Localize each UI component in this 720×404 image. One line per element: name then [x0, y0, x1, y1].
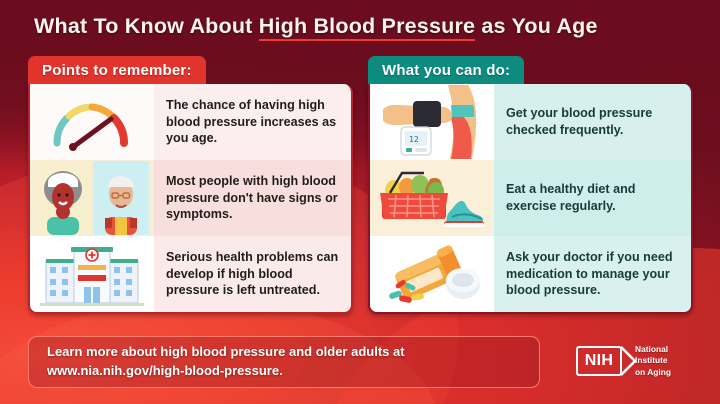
right-panel-card: 12 Get your blood pressure checked frequ…: [368, 84, 693, 314]
footer: Learn more about high blood pressure and…: [28, 336, 692, 388]
svg-text:12: 12: [409, 135, 419, 144]
list-item-text: Most people with high blood pressure don…: [166, 173, 341, 223]
hospital-building-icon: [30, 236, 154, 312]
page-title: What To Know About High Blood Pressure a…: [34, 14, 694, 39]
list-item-text-cell: Eat a healthy diet and exercise regularl…: [494, 160, 691, 236]
list-item-text: The chance of having high blood pressure…: [166, 97, 341, 147]
footer-url[interactable]: www.nia.nih.gov/high-blood-pressure.: [47, 363, 283, 378]
list-item-text-cell: Get your blood pressure checked frequent…: [494, 84, 691, 160]
list-item: Ask your doctor if you need medication t…: [370, 236, 691, 312]
title-underlined-phrase: High Blood Pressure: [259, 14, 475, 41]
list-item-text-cell: Ask your doctor if you need medication t…: [494, 236, 691, 312]
list-item-text: Eat a healthy diet and exercise regularl…: [506, 181, 681, 214]
list-item-text: Serious health problems can develop if h…: [166, 249, 341, 299]
list-item: The chance of having high blood pressure…: [30, 84, 351, 160]
learn-more-box: Learn more about high blood pressure and…: [28, 336, 540, 388]
left-panel-card: The chance of having high blood pressure…: [28, 84, 353, 314]
title-part-1: What To Know About: [34, 14, 259, 38]
right-panel-header: What you can do:: [368, 56, 524, 84]
list-item: Eat a healthy diet and exercise regularl…: [370, 160, 691, 236]
nih-name-line-2: on Aging: [635, 367, 692, 378]
infographic: What To Know About High Blood Pressure a…: [0, 0, 720, 404]
nih-institute-name: National Institute on Aging: [635, 344, 692, 378]
blood-pressure-gauge-icon: [30, 84, 154, 160]
nih-box: NIH: [576, 346, 622, 376]
blood-pressure-monitor-icon: 12: [370, 84, 494, 160]
footer-line-1: Learn more about high blood pressure and…: [47, 344, 405, 359]
nih-chevron-icon: [620, 346, 638, 376]
footer-text: Learn more about high blood pressure and…: [47, 343, 405, 381]
nih-name-line-1: National Institute: [635, 344, 692, 367]
list-item-text: Ask your doctor if you need medication t…: [506, 249, 681, 299]
list-item: 12 Get your blood pressure checked frequ…: [370, 84, 691, 160]
panel-what-you-can-do: What you can do: 12: [368, 56, 693, 314]
list-item-text-cell: The chance of having high blood pressure…: [154, 84, 351, 160]
list-item: Serious health problems can develop if h…: [30, 236, 351, 312]
panel-points-to-remember: Points to remember: The chance of having…: [28, 56, 353, 314]
list-item-text: Get your blood pressure checked frequent…: [506, 105, 681, 138]
list-item: Most people with high blood pressure don…: [30, 160, 351, 236]
list-item-text-cell: Serious health problems can develop if h…: [154, 236, 351, 312]
title-part-2: as You Age: [475, 14, 597, 38]
left-panel-header: Points to remember:: [28, 56, 206, 84]
pill-bottle-icon: [370, 236, 494, 312]
list-item-text-cell: Most people with high blood pressure don…: [154, 160, 351, 236]
nih-mark-icon: NIH: [576, 346, 628, 376]
grocery-basket-and-sneaker-icon: [370, 160, 494, 236]
nih-logo: NIH National Institute on Aging: [576, 344, 692, 378]
nih-acronym: NIH: [585, 353, 613, 369]
older-adults-portraits-icon: [30, 160, 154, 236]
